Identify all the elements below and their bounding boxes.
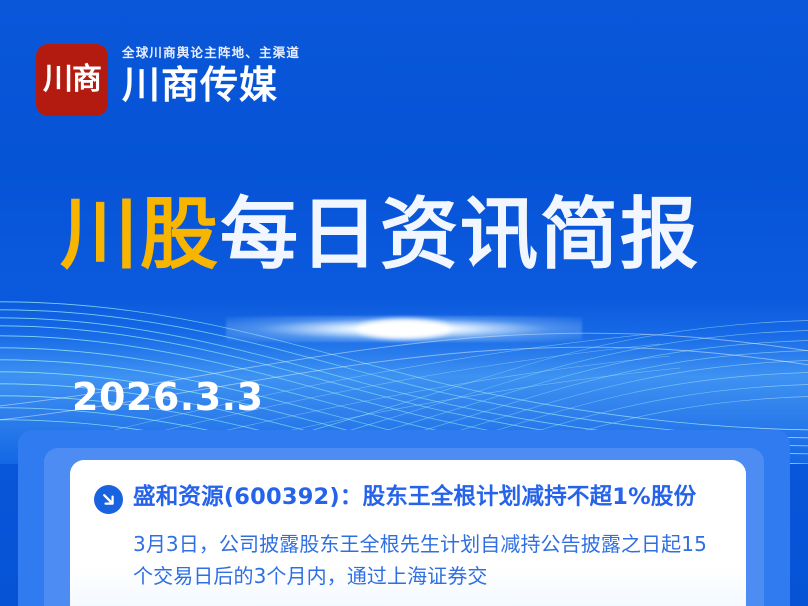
issue-date: 2026.3.3 xyxy=(72,378,264,416)
light-core xyxy=(356,318,453,340)
page-title-highlight: 川股 xyxy=(60,190,220,280)
arrow-down-right-icon xyxy=(94,485,123,514)
brand-header: 川商 全球川商舆论主阵地、主渠道 川商传媒 xyxy=(36,44,300,116)
brand-tagline: 全球川商舆论主阵地、主渠道 xyxy=(122,46,300,61)
logo-mark-text: 川商 xyxy=(43,65,101,95)
page-title: 川股每日资讯简报 xyxy=(60,196,700,274)
news-headline[interactable]: 盛和资源(600392)：股东王全根计划减持不超1%股份 xyxy=(133,482,696,514)
brand-wordmark: 川商传媒 xyxy=(122,64,300,107)
poster-canvas: 川商 全球川商舆论主阵地、主渠道 川商传媒 川股每日资讯简报 2026.3.3 … xyxy=(0,0,808,606)
news-headline-row: 盛和资源(600392)：股东王全根计划减持不超1%股份 xyxy=(94,482,720,514)
page-title-rest: 每日资讯简报 xyxy=(220,190,700,280)
logo-mark: 川商 xyxy=(36,44,108,116)
brand-text-block: 全球川商舆论主阵地、主渠道 川商传媒 xyxy=(122,44,300,107)
news-card[interactable]: 盛和资源(600392)：股东王全根计划减持不超1%股份 3月3日，公司披露股东… xyxy=(70,460,746,606)
news-body: 3月3日，公司披露股东王全根先生计划自减持公告披露之日起15个交易日后的3个月内… xyxy=(133,528,720,593)
